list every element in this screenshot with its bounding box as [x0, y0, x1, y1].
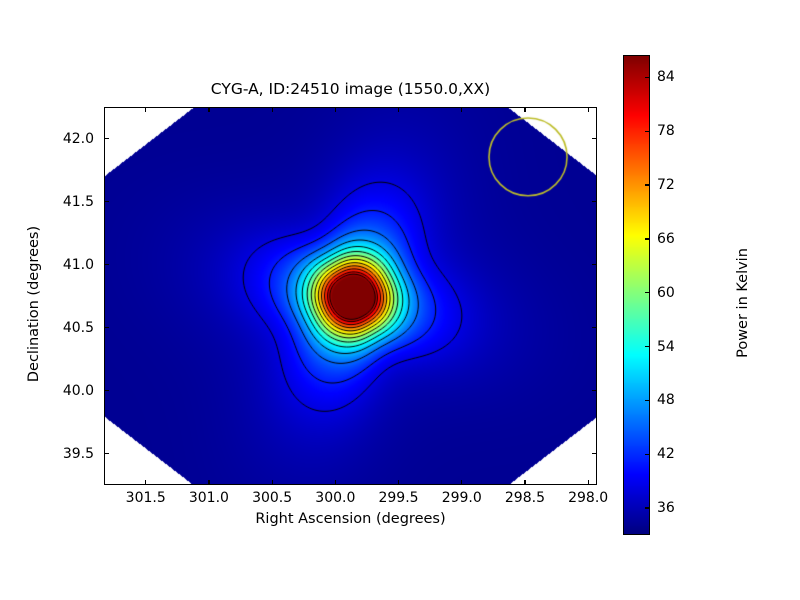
x-tick-label: 299.5	[378, 490, 418, 506]
x-tick-label: 298.5	[505, 490, 545, 506]
x-tick-label: 301.0	[189, 490, 229, 506]
x-tick-label: 299.0	[442, 490, 482, 506]
colorbar-tick-mark	[645, 131, 650, 132]
image-axes[interactable]	[104, 107, 597, 485]
colorbar-gradient	[624, 56, 649, 534]
x-tick-mark	[524, 480, 525, 485]
x-tick-mark	[208, 107, 209, 112]
x-tick-mark	[588, 480, 589, 485]
colorbar-tick-mark	[645, 77, 650, 78]
colorbar-tick-label: 42	[657, 446, 675, 462]
y-tick-mark	[592, 138, 597, 139]
y-tick-mark	[104, 201, 109, 202]
colorbar-tick-mark	[645, 454, 650, 455]
x-tick-mark	[335, 480, 336, 485]
x-tick-mark	[524, 107, 525, 112]
y-tick-mark	[592, 264, 597, 265]
x-tick-mark	[272, 480, 273, 485]
x-tick-label: 298.0	[568, 490, 608, 506]
y-tick-mark	[104, 390, 109, 391]
colorbar-tick-mark	[645, 400, 650, 401]
colorbar-tick-label: 36	[657, 500, 675, 516]
colorbar-tick-label: 84	[657, 69, 675, 85]
x-tick-mark	[588, 107, 589, 112]
y-tick-mark	[104, 327, 109, 328]
colorbar-tick-mark	[645, 184, 650, 185]
x-tick-mark	[272, 107, 273, 112]
colorbar-tick-mark	[645, 292, 650, 293]
x-tick-mark	[208, 480, 209, 485]
x-tick-mark	[145, 107, 146, 112]
x-axis-label: Right Ascension (degrees)	[104, 511, 597, 527]
y-tick-mark	[592, 201, 597, 202]
plot-title: CYG-A, ID:24510 image (1550.0,XX)	[104, 80, 597, 98]
colorbar[interactable]	[623, 55, 650, 535]
y-tick-label: 39.5	[63, 446, 94, 462]
colorbar-tick-label: 78	[657, 123, 675, 139]
x-tick-mark	[335, 107, 336, 112]
y-tick-label: 41.0	[63, 257, 94, 273]
colorbar-tick-label: 60	[657, 285, 675, 301]
y-tick-mark	[592, 327, 597, 328]
x-tick-label: 301.5	[126, 490, 166, 506]
colorbar-label: Power in Kelvin	[735, 193, 751, 413]
x-tick-mark	[461, 480, 462, 485]
y-tick-mark	[104, 264, 109, 265]
colorbar-tick-mark	[645, 238, 650, 239]
x-tick-mark	[398, 107, 399, 112]
colorbar-tick-label: 54	[657, 339, 675, 355]
colorbar-tick-mark	[645, 346, 650, 347]
colorbar-tick-label: 72	[657, 177, 675, 193]
x-tick-mark	[398, 480, 399, 485]
colorbar-tick-label: 48	[657, 392, 675, 408]
y-tick-mark	[104, 453, 109, 454]
contour-image	[105, 108, 596, 484]
colorbar-tick-mark	[645, 507, 650, 508]
x-tick-label: 300.0	[315, 490, 355, 506]
y-tick-label: 41.5	[63, 194, 94, 210]
colorbar-tick-label: 66	[657, 231, 675, 247]
y-tick-label: 42.0	[63, 131, 94, 147]
x-tick-label: 300.5	[252, 490, 292, 506]
figure-canvas: CYG-A, ID:24510 image (1550.0,XX) 301.53…	[0, 0, 800, 600]
x-tick-mark	[145, 480, 146, 485]
y-tick-mark	[104, 138, 109, 139]
y-tick-mark	[592, 453, 597, 454]
y-tick-label: 40.5	[63, 320, 94, 336]
y-tick-mark	[592, 390, 597, 391]
y-axis-label: Declination (degrees)	[26, 204, 42, 404]
x-tick-mark	[461, 107, 462, 112]
y-tick-label: 40.0	[63, 383, 94, 399]
